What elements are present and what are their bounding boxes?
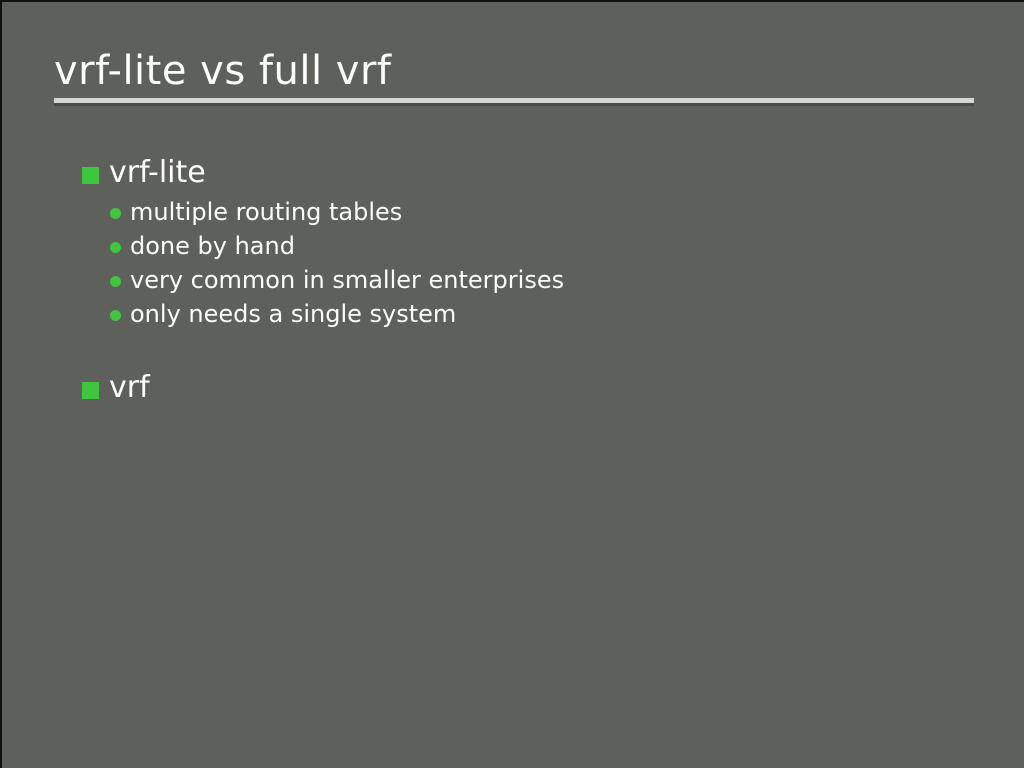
green-square-bullet-icon <box>82 167 99 184</box>
outline-item-level2: only needs a single system <box>2 298 1024 332</box>
presentation-slide: vrf-lite vs full vrf vrf-lite multiple r… <box>0 0 1024 768</box>
title-underline-rule <box>54 98 974 103</box>
outline-item-level2: very common in smaller enterprises <box>2 264 1024 298</box>
green-dot-bullet-icon <box>110 208 121 219</box>
page-title: vrf-lite vs full vrf <box>54 46 974 96</box>
outline-item-level2-label: multiple routing tables <box>130 198 402 226</box>
outline-item-level1: vrf-lite <box>2 154 1024 194</box>
green-dot-bullet-icon <box>110 276 121 287</box>
outline-item-level1-label: vrf <box>109 370 150 405</box>
slide-title-block: vrf-lite vs full vrf <box>54 46 974 96</box>
green-dot-bullet-icon <box>110 310 121 321</box>
outline-item-level2-label: very common in smaller enterprises <box>130 266 564 294</box>
outline-item-level1-label: vrf-lite <box>109 155 206 190</box>
green-square-bullet-icon <box>82 382 99 399</box>
outline-item-level2-label: done by hand <box>130 232 295 260</box>
outline-blank-line <box>2 332 1024 369</box>
outline-item-level1: vrf <box>2 369 1024 409</box>
outline-sublist: multiple routing tables done by hand ver… <box>2 196 1024 332</box>
slide-body-outline: vrf-lite multiple routing tables done by… <box>2 154 1024 411</box>
outline-item-level2: multiple routing tables <box>2 196 1024 230</box>
green-dot-bullet-icon <box>110 242 121 253</box>
outline-item-level2-label: only needs a single system <box>130 300 456 328</box>
outline-item-level2: done by hand <box>2 230 1024 264</box>
